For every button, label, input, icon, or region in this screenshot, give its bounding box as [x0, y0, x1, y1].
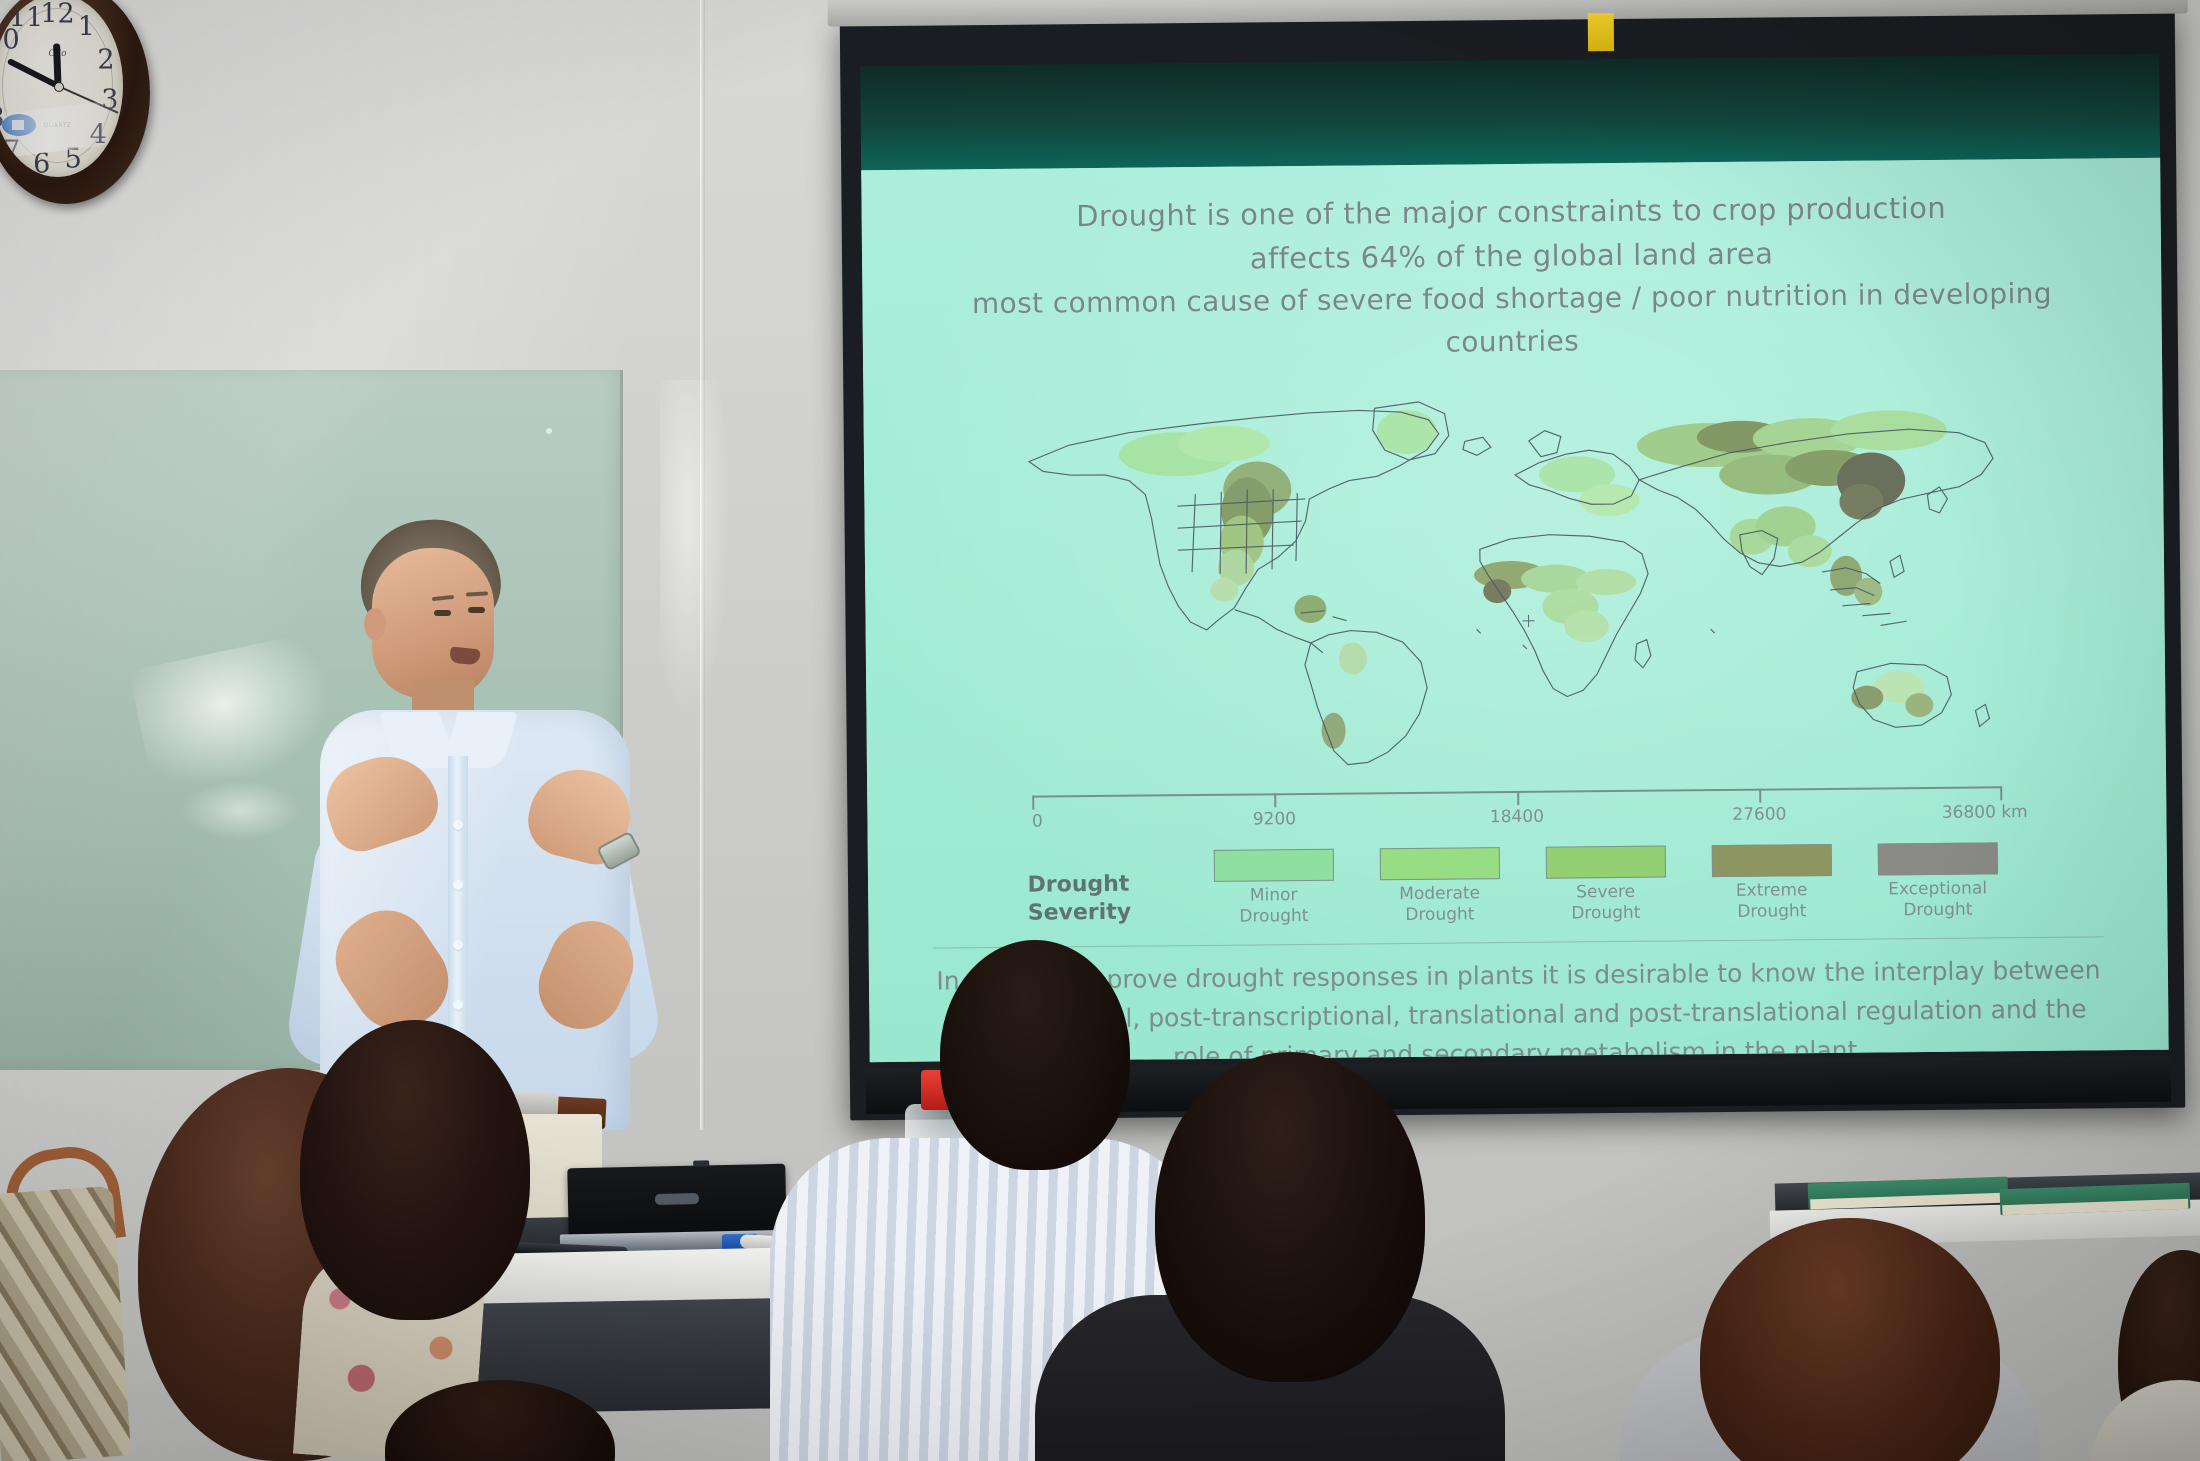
- presenter-shirt-button-4: [453, 1000, 463, 1010]
- audience-head-4: [1155, 1052, 1425, 1382]
- laptop-logo: [655, 1193, 699, 1205]
- clock-numeral-1: 1: [78, 11, 95, 42]
- clock-numeral-11: 11: [9, 2, 43, 33]
- legend-swatch-severe: [1545, 846, 1665, 879]
- presenter-shirt-button-1: [453, 820, 463, 830]
- legend-title: Drought Severity: [1027, 850, 1178, 926]
- clock-quartz-label: QUARTZ: [44, 122, 72, 129]
- legend-label-extreme-1: Extreme: [1702, 880, 1842, 902]
- legend-label-moderate-1: Moderate: [1370, 883, 1510, 905]
- scalebar-label-1: 9200: [1253, 809, 1296, 829]
- presenter-ear: [364, 608, 386, 640]
- clock-numeral-6: 6: [33, 149, 50, 177]
- audience-head-3: [940, 940, 1130, 1170]
- plaid-handbag: [0, 1186, 131, 1461]
- scalebar-label-4: 36800 km: [1942, 802, 2028, 823]
- wall-clock: 12 1 2 3 4 5 6 7 8 9 10 11 Cilo QUARTZ: [0, 0, 154, 210]
- legend-title-line-2: Severity: [1028, 898, 1178, 927]
- slide-title-line-3: most common cause of severe food shortag…: [902, 272, 2122, 369]
- clock-numeral-2: 2: [97, 44, 114, 75]
- audience-head-2: [300, 1020, 530, 1320]
- scalebar-tick-0: [1032, 796, 1034, 810]
- laptop-hinge-nub: [694, 1160, 710, 1166]
- scalebar-tick-4: [2000, 787, 2002, 801]
- scalebar-tick-3: [1759, 789, 1761, 803]
- clock-sticker: [2, 114, 36, 136]
- screen-surface: Drought is one of the major constraints …: [861, 158, 2169, 1062]
- legend-label-minor-2: Drought: [1204, 905, 1344, 927]
- scalebar-label-0: 0: [1032, 812, 1043, 832]
- clock-hour-hand: [53, 43, 61, 85]
- legend-swatch-extreme: [1711, 844, 1831, 877]
- board-glare-secondary: [180, 780, 300, 840]
- presenter-eye-right: [468, 607, 485, 613]
- legend-label-extreme-2: Drought: [1702, 900, 1842, 922]
- scalebar-label-2: 18400: [1490, 807, 1544, 828]
- laptop-screen[interactable]: [567, 1164, 786, 1241]
- presenter-shirt-button-2: [453, 880, 463, 890]
- scalebar-label-3: 27600: [1732, 805, 1786, 826]
- screen-roller-case: [828, 0, 2188, 27]
- legend-label-severe-2: Drought: [1536, 902, 1676, 924]
- yellow-label-tag: [1588, 13, 1614, 51]
- lecture-hall-photo: 12 1 2 3 4 5 6 7 8 9 10 11 Cilo QUARTZ: [0, 0, 2200, 1461]
- drought-severity-legend: Drought Severity Minor Drought Moderate …: [1002, 842, 2033, 929]
- legend-label-severe-1: Severe: [1536, 882, 1676, 904]
- legend-swatch-exceptional: [1877, 843, 1997, 876]
- legend-swatch-minor: [1213, 849, 1333, 882]
- map-scalebar: 0 9200 18400 27600 36800 km: [1032, 779, 2002, 834]
- legend-item-moderate: Moderate Drought: [1369, 847, 1510, 925]
- clock-numeral-5: 5: [65, 143, 82, 174]
- clock-center-pin: [54, 82, 64, 92]
- drought-severity-layer: [1118, 405, 1949, 751]
- legend-label-minor-1: Minor: [1204, 885, 1344, 907]
- presenter-shirt-button-3: [453, 940, 463, 950]
- legend-label-exceptional-1: Exceptional: [1868, 879, 2008, 901]
- presentation-slide: Drought is one of the major constraints …: [861, 158, 2169, 1062]
- scalebar-tick-1: [1274, 794, 1276, 808]
- world-drought-map: [1008, 374, 2022, 774]
- scalebar-tick-2: [1517, 791, 1519, 805]
- clock-numeral-9: 9: [0, 63, 1, 94]
- legend-label-exceptional-2: Drought: [1868, 899, 2008, 921]
- world-map-svg: [1008, 374, 2022, 774]
- legend-item-minor: Minor Drought: [1203, 849, 1344, 927]
- clock-numeral-4: 4: [90, 119, 107, 150]
- legend-item-severe: Severe Drought: [1535, 846, 1676, 924]
- legend-item-exceptional: Exceptional Drought: [1867, 843, 2008, 921]
- legend-item-extreme: Extreme Drought: [1701, 844, 1842, 922]
- legend-label-moderate-2: Drought: [1370, 904, 1510, 926]
- legend-swatch-moderate: [1379, 847, 1499, 880]
- clock-numeral-7: 7: [3, 136, 20, 167]
- legend-title-line-1: Drought: [1027, 870, 1177, 899]
- slide-divider: [933, 936, 2103, 948]
- clock-numeral-12: 12: [40, 0, 74, 30]
- board-mark: [546, 428, 552, 434]
- presenter-head: [372, 548, 494, 698]
- slide-title-block: Drought is one of the major constraints …: [901, 184, 2122, 369]
- map-crosshair: [1522, 615, 1534, 627]
- presenter-eye-left: [434, 610, 451, 616]
